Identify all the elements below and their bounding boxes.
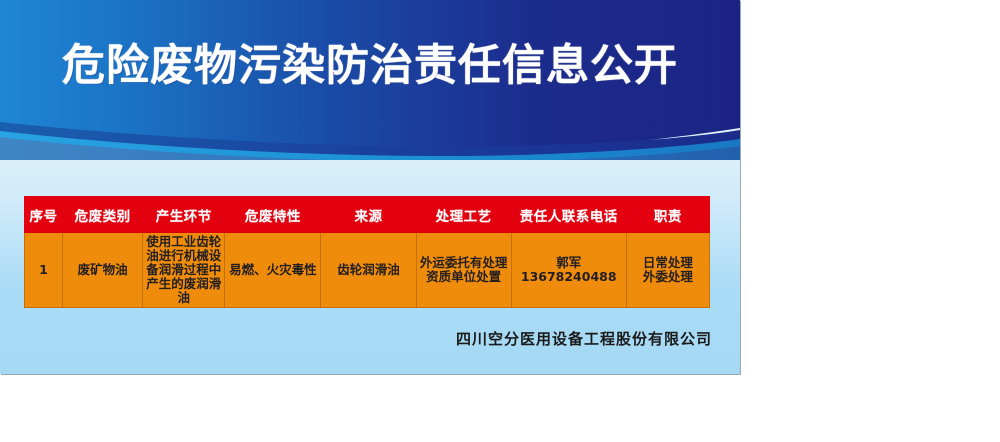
header-banner: 危险废物污染防治责任信息公开	[0, 0, 740, 160]
column-header-hazard: 危废特性	[225, 197, 321, 233]
cell-source: 齿轮润滑油	[321, 233, 416, 308]
cell-index: 1	[25, 233, 63, 308]
cell-duty: 日常处理 外委处理	[626, 233, 709, 308]
column-header-contact: 责任人联系电话	[511, 197, 626, 233]
hazardous-waste-table: 序号 危废类别 产生环节 危废特性 来源 处理工艺 责任人联系电话 职责 1 废…	[24, 196, 710, 308]
column-header-index: 序号	[25, 197, 63, 233]
company-name: 四川空分医用设备工程股份有限公司	[0, 328, 712, 349]
table-header-row: 序号 危废类别 产生环节 危废特性 来源 处理工艺 责任人联系电话 职责	[25, 197, 710, 233]
table-row: 1 废矿物油 使用工业齿轮油进行机械设备润滑过程中产生的废润滑油 易燃、火灾毒性…	[25, 233, 710, 308]
page-title: 危险废物污染防治责任信息公开	[0, 45, 740, 88]
contact-phone: 13678240488	[515, 270, 623, 284]
cell-stage: 使用工业齿轮油进行机械设备润滑过程中产生的废润滑油	[143, 233, 225, 308]
cell-treatment: 外运委托有处理资质单位处置	[416, 233, 511, 308]
contact-name: 郭军	[515, 256, 623, 270]
cell-hazard: 易燃、火灾毒性	[225, 233, 321, 308]
column-header-category: 危废类别	[63, 197, 143, 233]
cell-contact: 郭军 13678240488	[511, 233, 626, 308]
column-header-stage: 产生环节	[143, 197, 225, 233]
cell-category: 废矿物油	[63, 233, 143, 308]
poster-panel: 危险废物污染防治责任信息公开 序号 危废类别 产生环节 危废特性 来源 处理工艺…	[0, 0, 740, 374]
column-header-duty: 职责	[626, 197, 709, 233]
column-header-treatment: 处理工艺	[416, 197, 511, 233]
column-header-source: 来源	[321, 197, 416, 233]
